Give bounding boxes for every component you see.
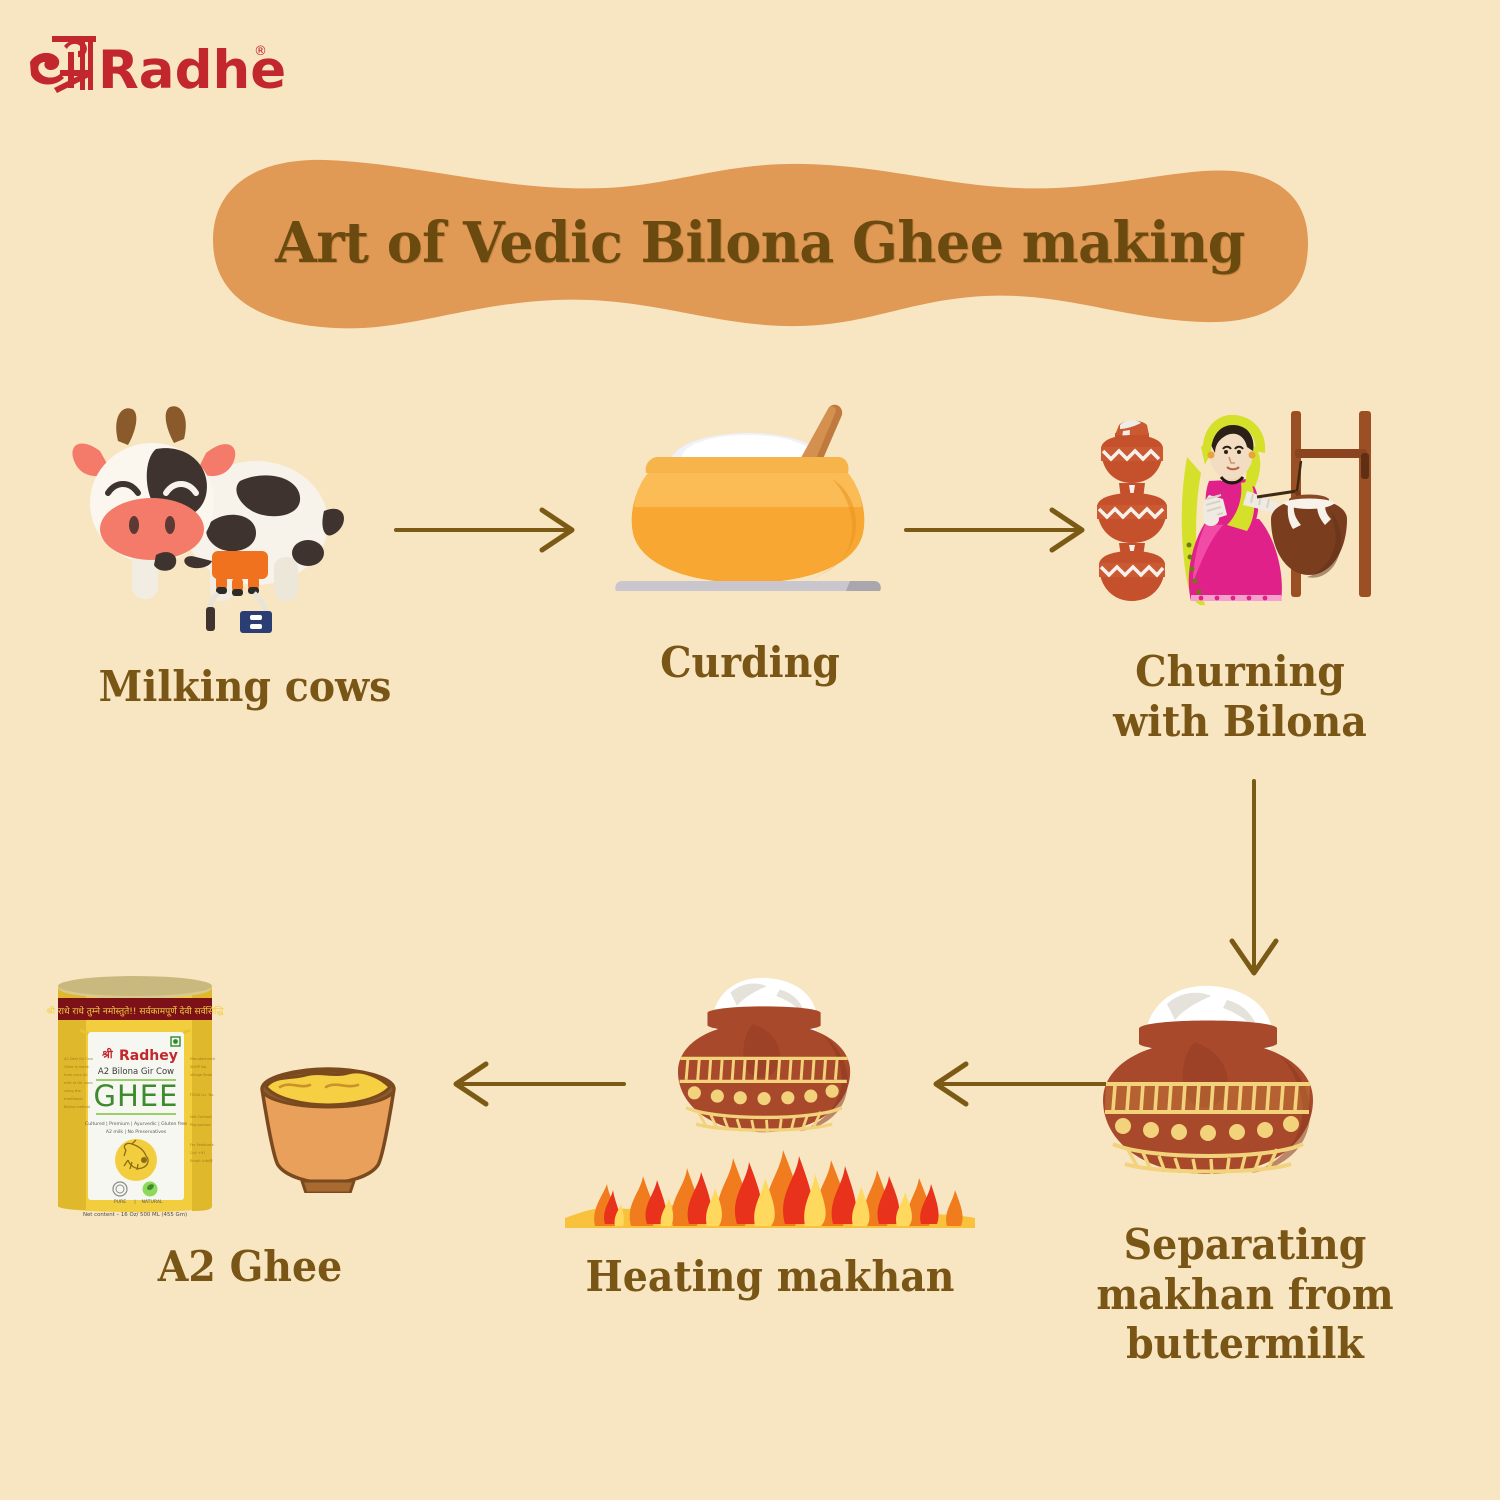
- ghee-tin-and-bowl-icon: श्री राधे राधे तुम्ने नमोस्तुते!! सर्वका…: [40, 930, 460, 1210]
- title-banner: Art of Vedic Bilona Ghee making: [205, 148, 1315, 338]
- cow-with-milking-machine-icon: [60, 395, 430, 640]
- step-label-a2ghee: A2 Ghee: [53, 1242, 448, 1292]
- svg-text:milk of Gir cows: milk of Gir cows: [64, 1081, 93, 1085]
- tin-product-name: GHEE: [94, 1079, 179, 1113]
- svg-text:Call +91: Call +91: [190, 1151, 205, 1155]
- arrow-milking-to-curding: [390, 498, 590, 562]
- curd-pot-with-ladle-icon: [600, 395, 900, 600]
- ghee-bowl-icon: [248, 1043, 408, 1198]
- svg-text:Email: info@: Email: info@: [190, 1159, 213, 1163]
- arrow-churning-to-separating: [1218, 775, 1290, 990]
- tin-top-band-text: श्री राधे राधे तुम्ने नमोस्तुते!! सर्वका…: [46, 1005, 224, 1017]
- clay-pot-with-makhan-icon: [1075, 960, 1415, 1200]
- step-label-separating: Separating makhan from buttermilk: [1085, 1220, 1405, 1369]
- veg-mark-icon: [173, 1039, 178, 1044]
- step-label-churning: Churning with Bilona: [1085, 647, 1395, 746]
- svg-text:using the: using the: [64, 1089, 82, 1093]
- svg-text:FSSAI Lic. No.: FSSAI Lic. No.: [190, 1093, 215, 1097]
- tin-badge-pure: PURE: [114, 1199, 126, 1205]
- svg-text:Net Content: Net Content: [190, 1115, 212, 1119]
- step-label-curding: Curding: [609, 638, 891, 688]
- tin-subtitle: A2 Bilona Gir Cow: [98, 1067, 174, 1077]
- svg-text:Pkg packed: Pkg packed: [190, 1123, 211, 1127]
- step-separating-makhan: Separating makhan from buttermilk: [1075, 960, 1415, 1369]
- svg-text:from pure A2: from pure A2: [64, 1073, 88, 1077]
- tin-side-text-right: Manufactured: [190, 1057, 215, 1061]
- step-label-heating: Heating makhan: [568, 1252, 972, 1302]
- woman-figure-icon: [1182, 415, 1291, 606]
- step-heating-makhan: Heating makhan: [555, 960, 985, 1302]
- svg-text:For Feedback: For Feedback: [190, 1143, 215, 1147]
- logo-trademark-icon: ®: [254, 44, 267, 59]
- clay-pot-on-fire-icon: [555, 960, 985, 1240]
- tin-badge-divider: |: [134, 1199, 136, 1205]
- logo-devanagari-script: [30, 36, 96, 93]
- stacked-pots-icon: [1097, 420, 1167, 601]
- tin-badge-natural: NATURAL: [141, 1199, 163, 1205]
- step-milking-cows: Milking cows: [60, 395, 430, 712]
- page-title: Art of Vedic Bilona Ghee making: [227, 148, 1293, 338]
- svg-text:SHOP No.: SHOP No.: [190, 1065, 207, 1069]
- woman-churning-bilona-icon: [1075, 395, 1405, 625]
- svg-text:Bilona method: Bilona method: [64, 1105, 90, 1109]
- arrow-curding-to-churning: [900, 498, 1100, 562]
- step-label-milking: Milking cows: [71, 662, 419, 712]
- fire-icon: [565, 1150, 975, 1228]
- step-a2-ghee: श्री राधे राधे तुम्ने नमोस्तुते!! सर्वका…: [40, 930, 460, 1292]
- tin-net-content: Net content – 16 Oz/ 500 ML (455 Gm): [83, 1212, 187, 1218]
- step-curding: Curding: [600, 395, 900, 688]
- ghee-tin-icon: श्री राधे राधे तुम्ने नमोस्तुते!! सर्वका…: [40, 970, 230, 1210]
- svg-text:Village Road: Village Road: [190, 1073, 212, 1077]
- tin-claims-line1: Cultured | Premium | Ayurvedic | Gluten …: [85, 1121, 187, 1127]
- svg-text:Ghee is made: Ghee is made: [64, 1065, 90, 1069]
- brand-logo: Radhey ®: [24, 18, 284, 110]
- tin-brand-script: श्री: [101, 1047, 114, 1061]
- tin-side-text-left: A2 Desi Gir Cow: [64, 1057, 93, 1061]
- churn-pot-icon: [1271, 495, 1347, 578]
- tin-claims-line2: A2 milk | No Preservatives: [106, 1129, 167, 1135]
- tin-brand-latin: Radhey: [119, 1048, 178, 1064]
- step-churning-with-bilona: Churning with Bilona: [1075, 395, 1405, 746]
- svg-text:traditional: traditional: [64, 1097, 82, 1101]
